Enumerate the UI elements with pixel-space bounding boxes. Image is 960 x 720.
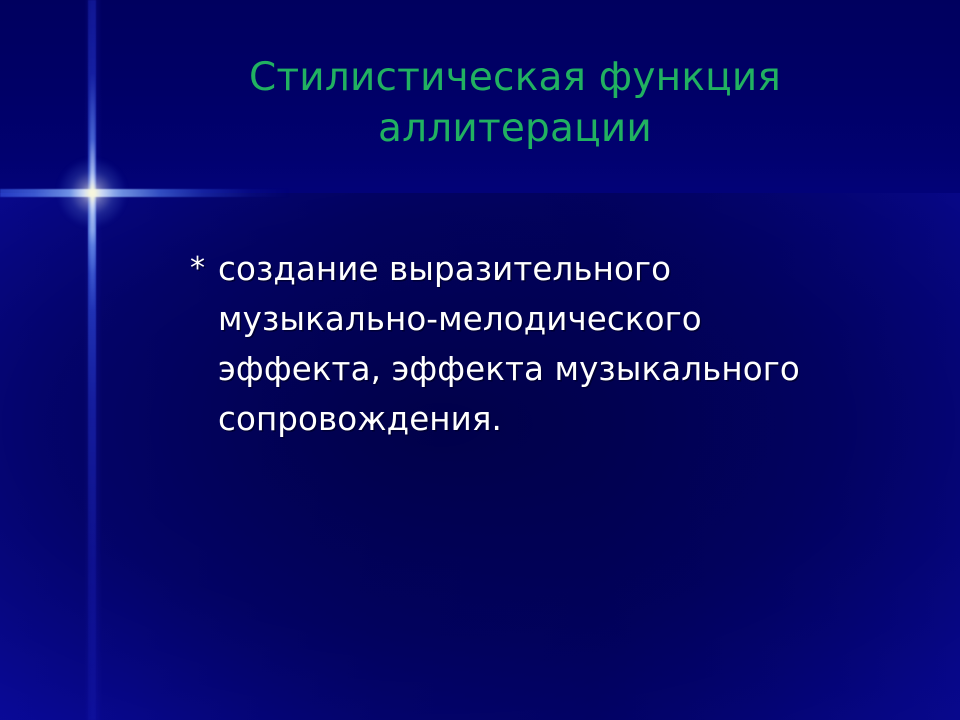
bullet-text-line-4: сопровождения. — [218, 394, 910, 444]
bullet-text-line-3: эффекта, эффекта музыкального — [218, 344, 910, 394]
bullet-text-line-1: создание выразительного — [218, 244, 910, 294]
bullet-item: * создание выразительного музыкально-мел… — [190, 244, 910, 444]
bullet-text: создание выразительного музыкально-мелод… — [218, 244, 910, 444]
slide-title-line-2: аллитерации — [120, 103, 910, 154]
slide-title-line-1: Стилистическая функция — [120, 52, 910, 103]
bullet-text-line-2: музыкально-мелодического — [218, 294, 910, 344]
presentation-slide: Стилистическая функция аллитерации * соз… — [0, 0, 960, 720]
slide-body: * создание выразительного музыкально-мел… — [190, 244, 910, 444]
slide-title: Стилистическая функция аллитерации — [120, 52, 910, 154]
bullet-marker-asterisk: * — [190, 244, 218, 294]
